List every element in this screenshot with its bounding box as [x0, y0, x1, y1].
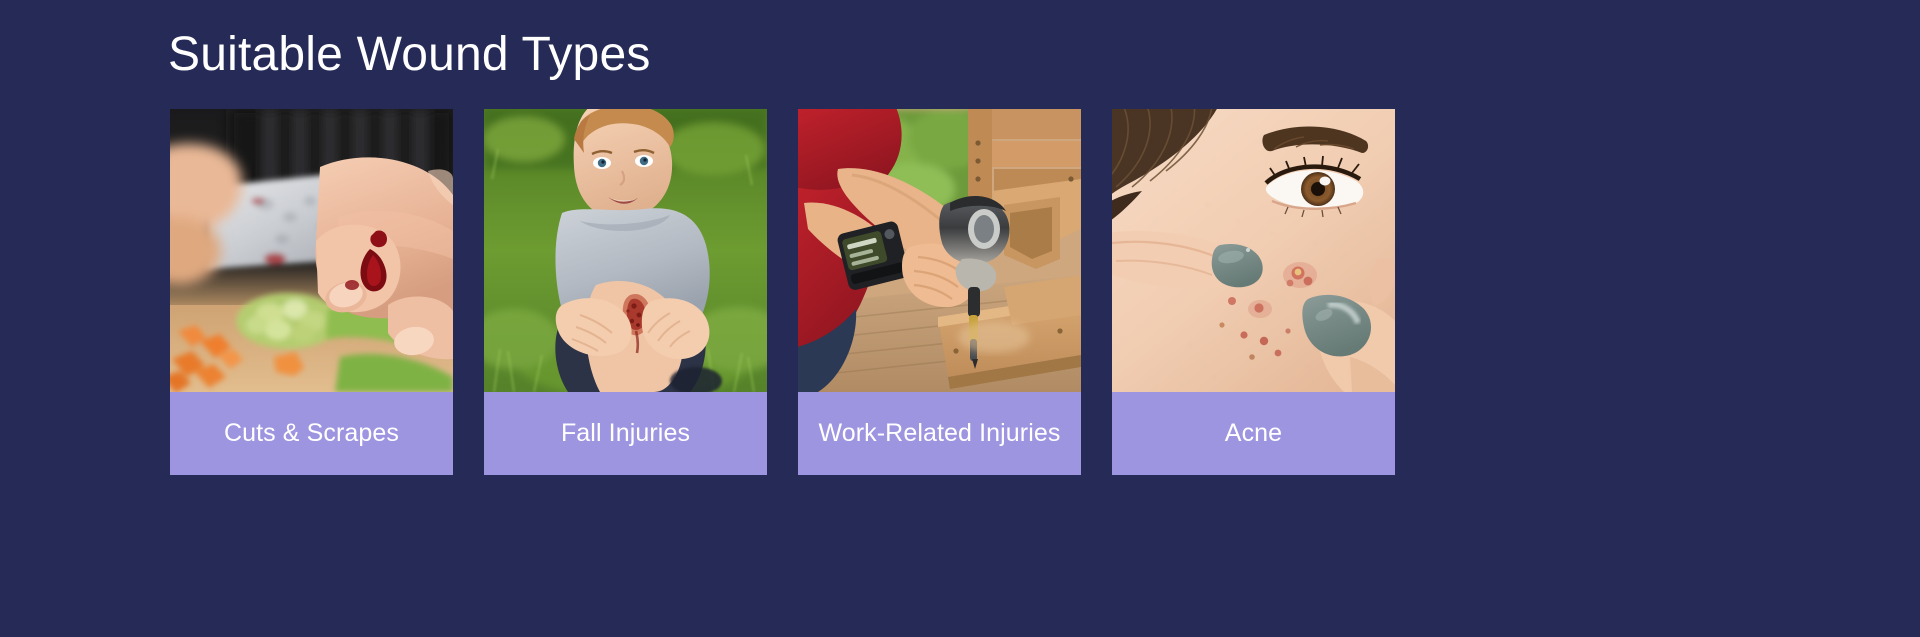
card-label: Cuts & Scrapes — [224, 421, 399, 446]
card-label: Work-Related Injuries — [818, 421, 1060, 446]
card-caption: Work-Related Injuries — [798, 392, 1081, 475]
suitable-wound-types-section: Suitable Wound Types — [0, 0, 1920, 637]
wound-type-card[interactable]: Acne — [1112, 109, 1395, 475]
card-label: Acne — [1225, 421, 1282, 446]
wound-type-card[interactable]: Cuts & Scrapes — [170, 109, 453, 475]
fall-injuries-photo — [484, 109, 767, 392]
wound-type-card-row: Cuts & Scrapes — [170, 109, 1395, 475]
wound-type-card[interactable]: Work-Related Injuries — [798, 109, 1081, 475]
card-caption: Acne — [1112, 392, 1395, 475]
card-caption: Cuts & Scrapes — [170, 392, 453, 475]
page-title: Suitable Wound Types — [168, 26, 651, 84]
card-caption: Fall Injuries — [484, 392, 767, 475]
acne-photo — [1112, 109, 1395, 392]
cuts-and-scrapes-photo — [170, 109, 453, 392]
wound-type-card[interactable]: Fall Injuries — [484, 109, 767, 475]
card-label: Fall Injuries — [561, 421, 690, 446]
work-related-injuries-photo — [798, 109, 1081, 392]
